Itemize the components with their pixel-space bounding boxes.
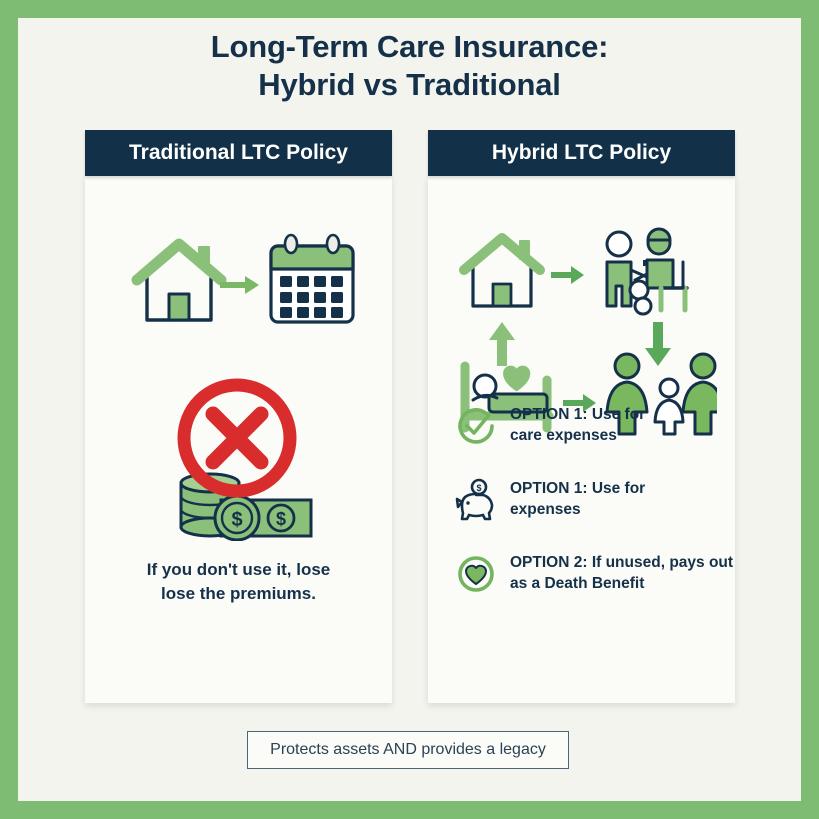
option-line-1: OPTION 1: Use for [510, 478, 645, 499]
column-header-hybrid-label: Hybrid LTC Policy [492, 141, 671, 165]
comparison-columns: Traditional LTC Policy [18, 130, 801, 705]
svg-text:$: $ [231, 509, 242, 531]
house-icon [137, 244, 221, 320]
coin-dollar-icon: $ [215, 496, 259, 540]
column-header-hybrid: Hybrid LTC Policy [428, 130, 735, 176]
option-text: OPTION 1: Use for care expenses [510, 402, 645, 446]
red-x-circle-icon [184, 385, 290, 491]
option-line-2: as a Death Benefit [510, 573, 733, 594]
column-traditional: Traditional LTC Policy [85, 130, 392, 703]
column-header-traditional: Traditional LTC Policy [85, 130, 392, 176]
traditional-caption-line-2: lose the premiums. [95, 582, 382, 606]
option-line-1: OPTION 2: If unused, pays out [510, 552, 733, 573]
heart-circle-icon [454, 552, 498, 596]
option-text: OPTION 2: If unused, pays out as a Death… [510, 550, 733, 594]
option-line-2: care expenses [510, 425, 645, 446]
option-line-1: OPTION 1: Use for [510, 404, 645, 425]
column-header-traditional-label: Traditional LTC Policy [129, 141, 348, 165]
house-to-calendar-group [119, 224, 359, 329]
traditional-caption: If you don't use it, lose lose the premi… [95, 558, 382, 606]
traditional-caption-line-1: If you don't use it, lose [95, 558, 382, 582]
lost-premium-illustration: $ $ [85, 376, 392, 546]
option-text: OPTION 1: Use for expenses [510, 476, 645, 520]
seated-person-icon [630, 229, 687, 314]
title-line-2: Hybrid vs Traditional [18, 66, 801, 104]
option-line-2: expenses [510, 499, 645, 520]
house-icon [464, 238, 540, 306]
piggy-bank-icon: $ [454, 478, 498, 522]
check-circle-icon [454, 404, 498, 448]
option-item: OPTION 1: Use for care expenses [454, 402, 722, 454]
infographic-frame: Long-Term Care Insurance: Hybrid vs Trad… [18, 18, 801, 801]
footer-callout-text: Protects assets AND provides a legacy [270, 741, 546, 759]
hybrid-option-list: OPTION 1: Use for care expenses $ [454, 402, 722, 624]
arrow-right-icon [551, 266, 584, 284]
svg-text:$: $ [476, 483, 481, 493]
calendar-icon [271, 235, 353, 322]
no-refund-group: $ $ [159, 376, 319, 541]
svg-text:$: $ [275, 509, 285, 529]
column-body-traditional: $ $ [85, 176, 392, 703]
column-hybrid: Hybrid LTC Policy [428, 130, 735, 703]
page-title: Long-Term Care Insurance: Hybrid vs Trad… [18, 28, 801, 104]
option-item: $ OPTION 1: Use for expenses [454, 476, 722, 528]
title-line-1: Long-Term Care Insurance: [18, 28, 801, 66]
footer-callout: Protects assets AND provides a legacy [247, 731, 569, 769]
option-item: OPTION 2: If unused, pays out as a Death… [454, 550, 722, 602]
traditional-flow-illustration [85, 224, 392, 334]
column-body-hybrid: OPTION 1: Use for care expenses $ [428, 176, 735, 703]
